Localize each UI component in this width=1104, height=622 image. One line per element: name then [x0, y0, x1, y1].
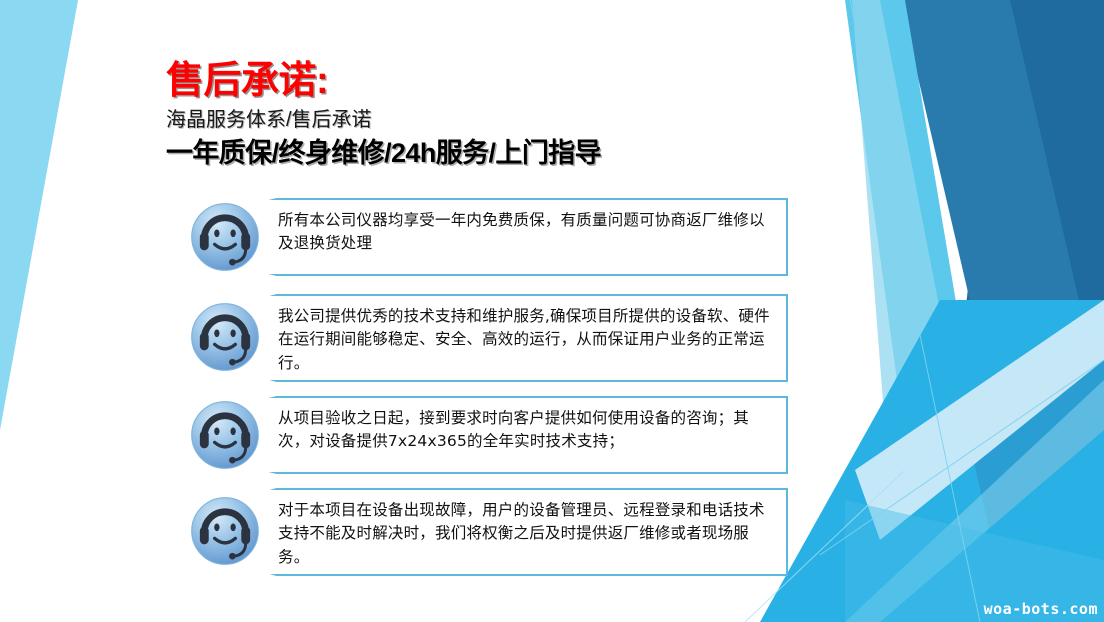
lower-right-mid-shape — [960, 330, 1104, 622]
commitment-text: 我公司提供优秀的技术支持和维护服务,确保项目所提供的设备软、硬件在运行期间能够稳… — [234, 296, 786, 384]
commitment-bubble: 从项目验收之日起，接到要求时向客户提供如何使用设备的咨询；其次，对设备提供7x2… — [232, 396, 788, 474]
commitment-bubble: 对于本项目在设备出现故障，用户的设备管理员、远程登录和电话技术支持不能及时解决时… — [232, 488, 788, 576]
commitment-text: 对于本项目在设备出现故障，用户的设备管理员、远程登录和电话技术支持不能及时解决时… — [234, 490, 786, 578]
left-wedge-shape — [0, 0, 78, 430]
headset-smiley-icon — [188, 300, 262, 374]
commitment-text: 从项目验收之日起，接到要求时向客户提供如何使用设备的咨询；其次，对设备提供7x2… — [234, 398, 786, 463]
lower-right-bright-shape — [760, 300, 1104, 622]
lower-pale-band2-shape — [845, 380, 1104, 622]
title-block: 售后承诺: 海晶服务体系/售后承诺 一年质保/终身维修/24h服务/上门指导 — [166, 62, 786, 169]
tagline: 一年质保/终身维修/24h服务/上门指导 — [166, 138, 786, 169]
commitment-text: 所有本公司仪器均享受一年内免费质保，有质量问题可协商返厂维修以及退换货处理 — [234, 200, 786, 265]
list-item: 所有本公司仪器均享受一年内免费质保，有质量问题可协商返厂维修以及退换货处理 — [188, 196, 808, 288]
right-steel-shape — [900, 0, 1104, 430]
bottom-right-cyan-shape — [880, 430, 1104, 622]
slide-canvas: 售后承诺: 海晶服务体系/售后承诺 一年质保/终身维修/24h服务/上门指导 所… — [0, 0, 1104, 622]
headset-smiley-icon — [188, 398, 262, 472]
right-pale-shape — [852, 0, 1000, 622]
headset-smiley-icon — [188, 200, 262, 274]
hairline-2 — [820, 360, 1104, 555]
list-item: 从项目验收之日起，接到要求时向客户提供如何使用设备的咨询；其次，对设备提供7x2… — [188, 392, 808, 484]
headset-smiley-icon — [188, 494, 262, 568]
right-sky-shape — [845, 0, 1010, 622]
commitment-list: 所有本公司仪器均享受一年内免费质保，有质量问题可协商返厂维修以及退换货处理 — [188, 196, 808, 584]
lower-pale-band-shape — [855, 300, 1104, 540]
right-deep-blue-shape — [960, 0, 1104, 400]
commitment-bubble: 所有本公司仪器均享受一年内免费质保，有质量问题可协商返厂维修以及退换货处理 — [232, 198, 788, 276]
hairline-1 — [850, 0, 980, 622]
list-item: 我公司提供优秀的技术支持和维护服务,确保项目所提供的设备软、硬件在运行期间能够稳… — [188, 290, 808, 390]
commitment-bubble: 我公司提供优秀的技术支持和维护服务,确保项目所提供的设备软、硬件在运行期间能够稳… — [232, 294, 788, 382]
watermark: woa-bots.com — [984, 600, 1098, 618]
page-title: 售后承诺: — [166, 62, 786, 102]
list-item: 对于本项目在设备出现故障，用户的设备管理员、远程登录和电话技术支持不能及时解决时… — [188, 486, 808, 582]
breadcrumb: 海晶服务体系/售后承诺 — [166, 108, 786, 132]
